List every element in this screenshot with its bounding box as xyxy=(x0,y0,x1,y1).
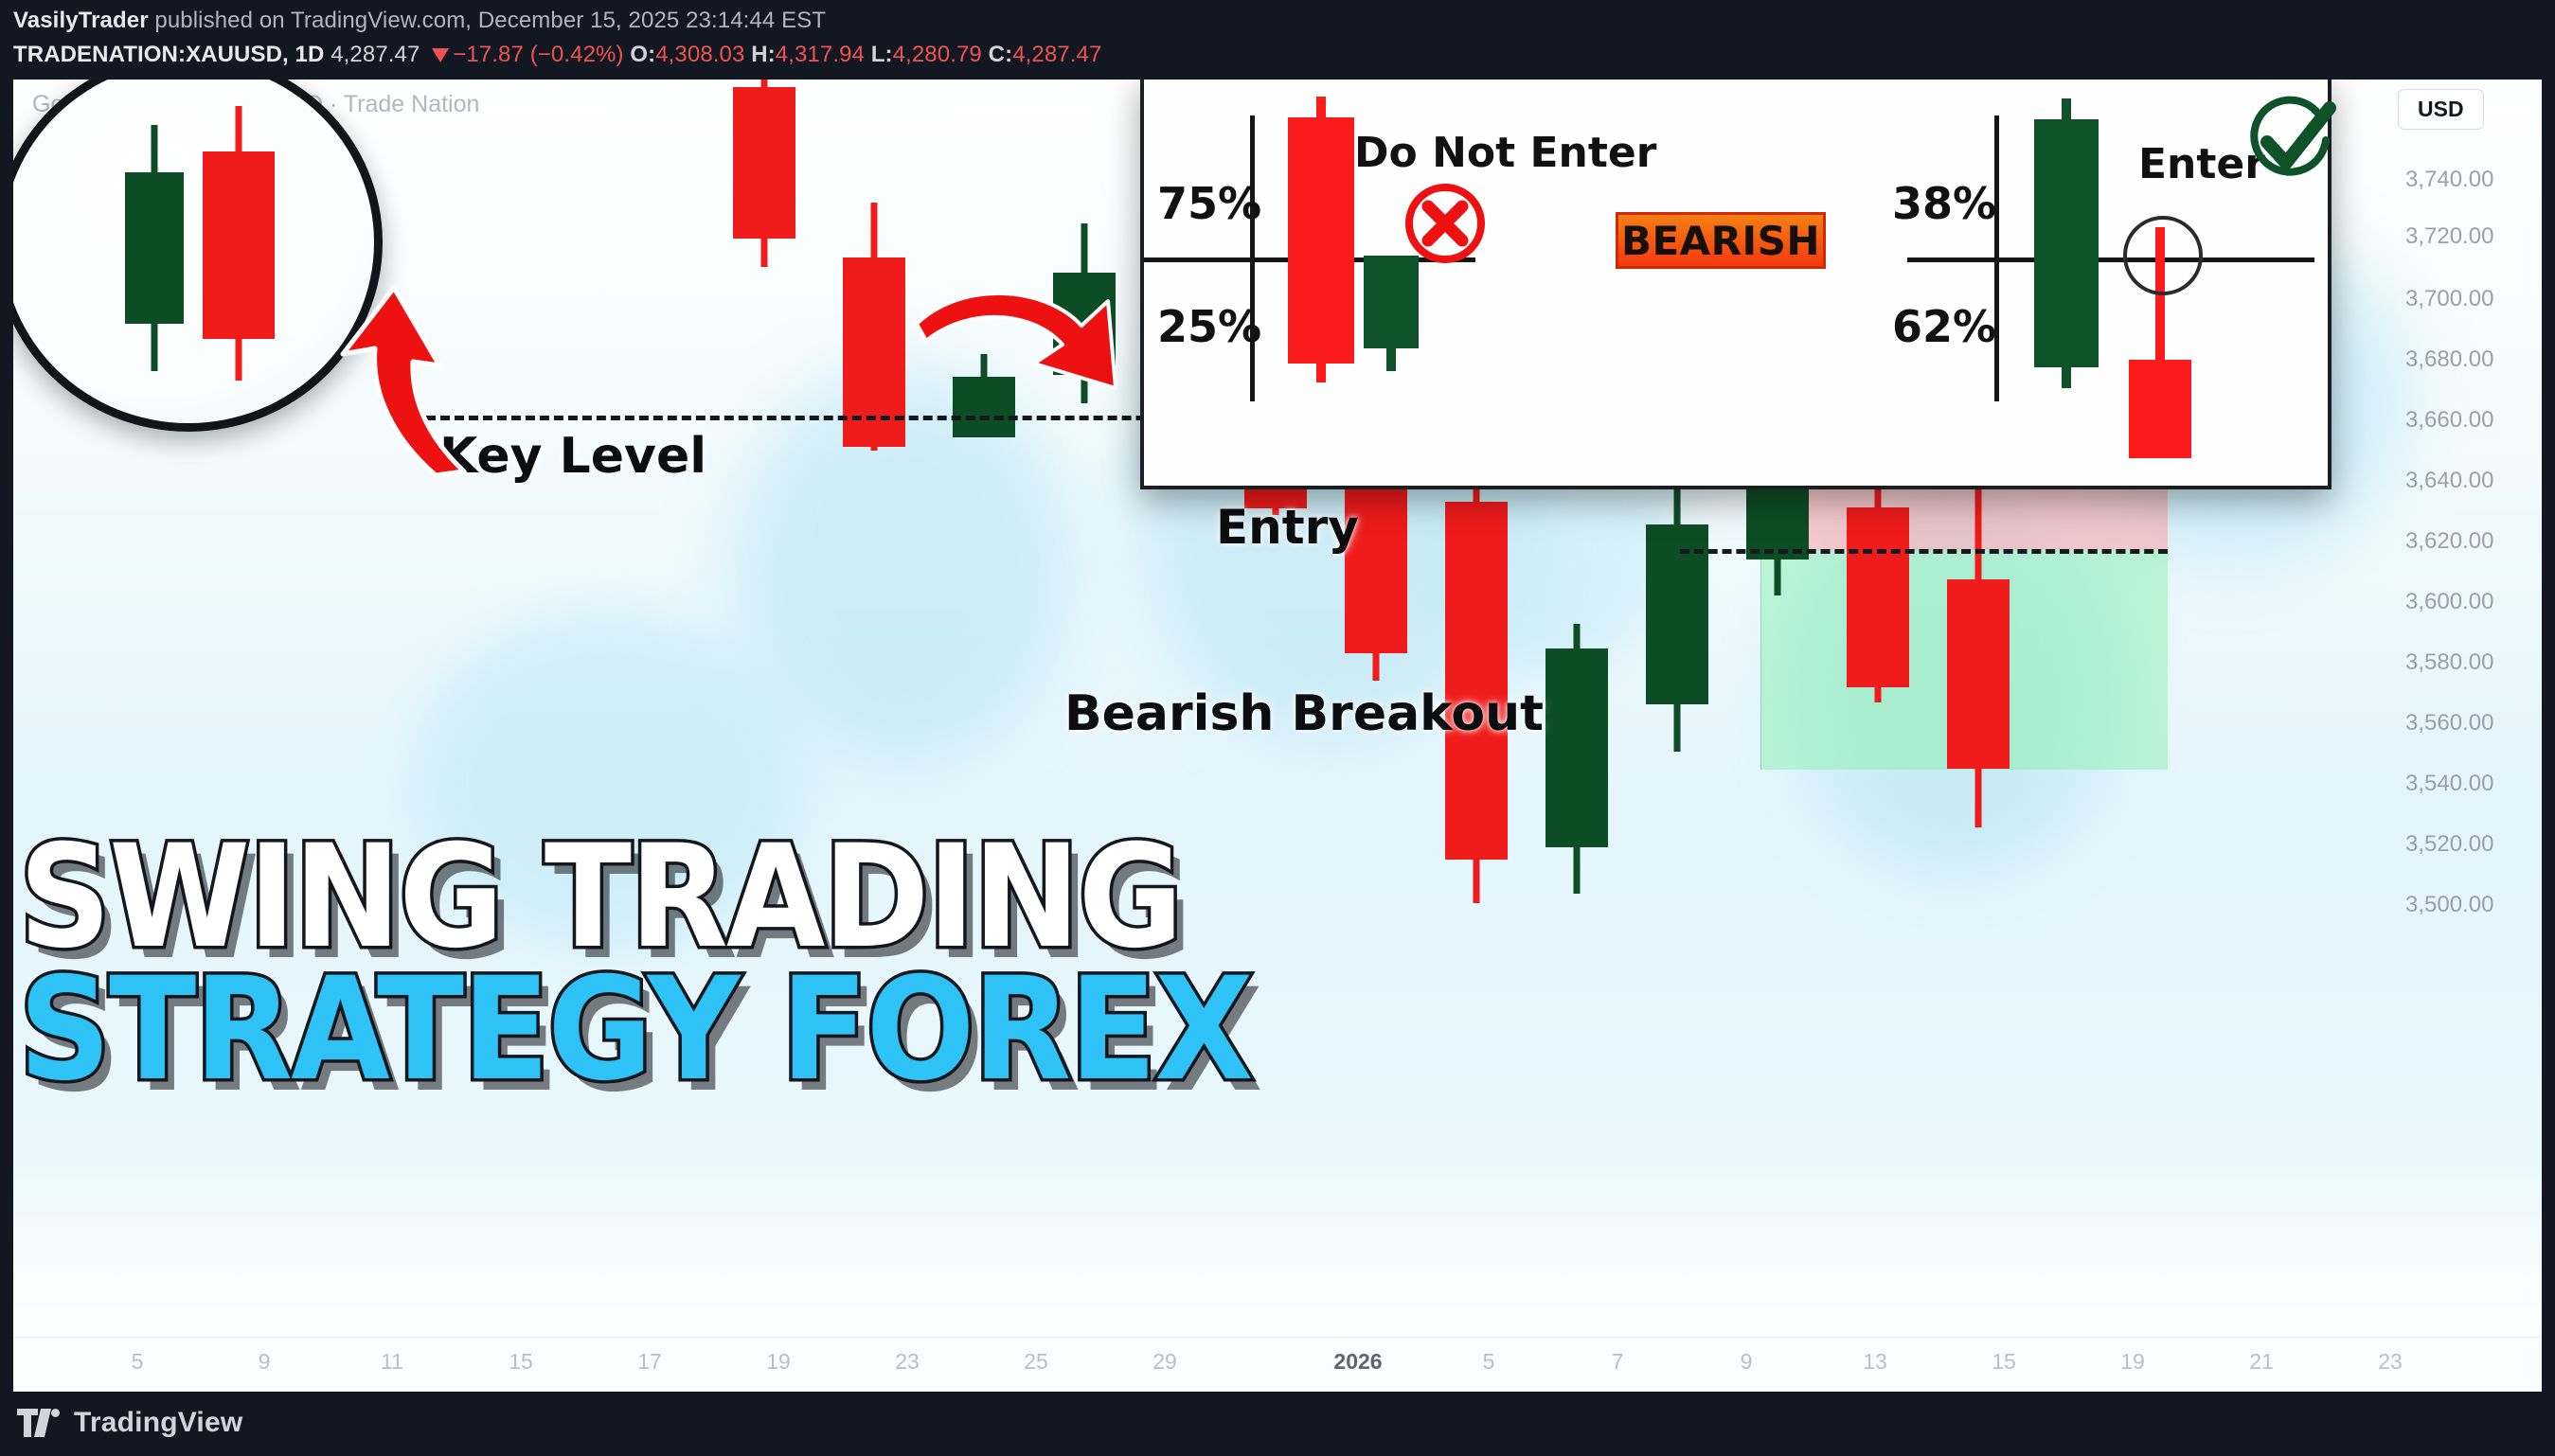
key-level-label: Key Level xyxy=(439,428,706,485)
price-tick: 3,700.00 xyxy=(2405,286,2493,312)
time-tick: 11 xyxy=(381,1349,403,1375)
pct-75-label: 75% xyxy=(1157,178,1261,229)
overlay-candle-green-small xyxy=(1364,256,1419,371)
entry-label: Entry xyxy=(1216,500,1359,555)
triangle-down-icon xyxy=(432,48,449,62)
low-key: L: xyxy=(871,42,893,67)
tradingview-wordmark: TradingView xyxy=(74,1407,242,1439)
tradingview-screenshot: VasilyTrader published on TradingView.co… xyxy=(0,0,2555,1456)
time-tick: 15 xyxy=(1992,1349,2016,1375)
candle-down[interactable] xyxy=(1947,477,2010,827)
author-name[interactable]: VasilyTrader xyxy=(13,8,149,33)
pct-25-label: 25% xyxy=(1157,301,1261,352)
right-horizontal-axis xyxy=(1907,257,2314,262)
time-tick: 9 xyxy=(259,1349,271,1375)
time-tick: 23 xyxy=(895,1349,920,1375)
time-tick: 29 xyxy=(1152,1349,1177,1375)
price-tick: 3,540.00 xyxy=(2405,771,2493,797)
entry-line xyxy=(1680,549,2168,554)
price-tick: 3,520.00 xyxy=(2405,831,2493,858)
time-tick: 13 xyxy=(1863,1349,1887,1375)
price-axis[interactable]: USD 3,740.00 3,720.00 3,700.00 3,680.00 … xyxy=(2356,80,2542,1337)
change-abs: −17.87 xyxy=(453,42,524,67)
bearish-badge: BEARISH xyxy=(1616,212,1826,269)
price-tick: 3,500.00 xyxy=(2405,892,2493,918)
last-price: 4,287.47 xyxy=(331,42,420,67)
do-not-enter-label: Do Not Enter xyxy=(1354,129,1656,177)
time-tick: 21 xyxy=(2249,1349,2274,1375)
time-tick: 19 xyxy=(2120,1349,2145,1375)
candle-up[interactable] xyxy=(1646,449,1708,752)
price-tick: 3,660.00 xyxy=(2405,407,2493,434)
entry-marker-circle-icon xyxy=(2119,212,2207,299)
pct-38-label: 38% xyxy=(1892,178,1996,229)
symbol-quote-line: TRADENATION:XAUUSD, 1D 4,287.47 −17.87 (… xyxy=(13,42,1101,68)
currency-chip[interactable]: USD xyxy=(2398,89,2484,130)
chart-header: VasilyTrader published on TradingView.co… xyxy=(0,0,2555,80)
price-tick: 3,620.00 xyxy=(2405,528,2493,555)
arrow-up-left-icon xyxy=(288,250,477,477)
check-circle-icon xyxy=(2237,95,2339,201)
price-tick: 3,720.00 xyxy=(2405,223,2493,250)
overlay-candle-red-large xyxy=(1288,97,1354,382)
open-value: 4,308.03 xyxy=(655,42,744,67)
time-tick: 7 xyxy=(1612,1349,1624,1375)
time-tick-year: 2026 xyxy=(1333,1349,1382,1375)
magnified-candle-up xyxy=(125,125,184,371)
time-tick: 5 xyxy=(1483,1349,1495,1375)
price-tick: 3,580.00 xyxy=(2405,649,2493,676)
time-tick: 5 xyxy=(132,1349,144,1375)
pct-62-label: 62% xyxy=(1892,301,1996,352)
footer-bar: TradingView xyxy=(0,1392,2555,1456)
high-key: H: xyxy=(751,42,776,67)
magnified-candle-down xyxy=(203,106,275,381)
candle-down[interactable] xyxy=(843,203,905,451)
candle-down[interactable] xyxy=(733,80,795,267)
close-key: C: xyxy=(989,42,1013,67)
close-value: 4,287.47 xyxy=(1012,42,1101,67)
time-tick: 25 xyxy=(1024,1349,1048,1375)
price-tick: 3,560.00 xyxy=(2405,710,2493,737)
time-tick: 9 xyxy=(1741,1349,1753,1375)
candle-up[interactable] xyxy=(1546,624,1608,894)
cross-circle-icon xyxy=(1402,180,1489,267)
tradingview-mark-icon xyxy=(17,1409,61,1437)
publish-info: VasilyTrader published on TradingView.co… xyxy=(13,8,826,34)
change-pct: (−0.42%) xyxy=(530,42,624,67)
tradingview-logo[interactable]: TradingView xyxy=(17,1407,242,1439)
candlestick-rule-overlay: 75% 25% Do Not Enter BEARISH 38% 62% xyxy=(1140,76,2332,489)
overlay-title-line2: STRATEGY FOREX xyxy=(19,965,1252,1095)
high-value: 4,317.94 xyxy=(776,42,865,67)
price-tick: 3,680.00 xyxy=(2405,346,2493,373)
time-tick: 17 xyxy=(637,1349,662,1375)
low-value: 4,280.79 xyxy=(893,42,982,67)
price-tick: 3,600.00 xyxy=(2405,589,2493,615)
time-tick: 19 xyxy=(766,1349,791,1375)
overlay-candle-green-large xyxy=(2034,98,2099,388)
time-axis[interactable]: 5 9 11 15 17 19 23 25 29 2026 5 7 9 13 1… xyxy=(13,1337,2542,1392)
publish-text: published on TradingView.com, December 1… xyxy=(149,8,826,33)
open-key: O: xyxy=(630,42,655,67)
overlay-title-line1: SWING TRADING xyxy=(19,832,1181,963)
price-tick: 3,640.00 xyxy=(2405,468,2493,494)
price-tick: 3,740.00 xyxy=(2405,167,2493,193)
bearish-breakout-label: Bearish Breakout xyxy=(1064,685,1544,742)
symbol-label[interactable]: TRADENATION:XAUUSD, 1D xyxy=(13,42,324,67)
time-tick: 15 xyxy=(509,1349,533,1375)
arrow-curve-right-down-icon xyxy=(913,290,1131,413)
time-tick: 23 xyxy=(2378,1349,2403,1375)
